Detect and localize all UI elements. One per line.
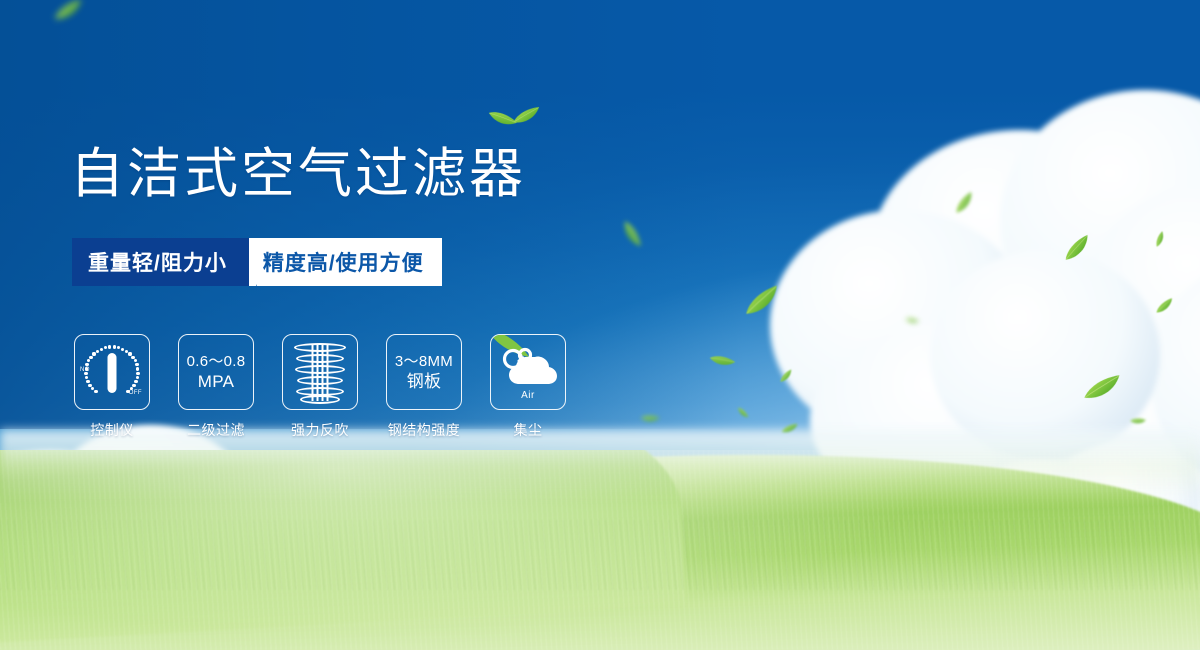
dial-tick-icon — [136, 367, 139, 370]
feature-label-dust: 集尘 — [514, 420, 543, 440]
subtitle-left: 重量轻/阻力小 — [72, 238, 249, 286]
feature-box-pressure[interactable]: 0.6〜0.8 MPA — [178, 334, 254, 410]
control-dial-icon: NO OFF — [79, 341, 145, 403]
horizon-blend — [0, 430, 1200, 500]
dial-tick-icon — [86, 380, 89, 383]
air-label: Air — [497, 390, 559, 401]
filter-coil-icon — [294, 343, 346, 401]
feature-item-dust[interactable]: Air 集尘 — [490, 334, 566, 440]
cloud-glyph-icon — [497, 343, 559, 389]
pressure-unit: MPA — [187, 372, 246, 392]
feature-label-steel: 钢结构强度 — [388, 420, 461, 440]
dial-tick-icon — [121, 348, 124, 351]
coil-ring-icon — [294, 343, 346, 352]
dial-tick-icon — [100, 348, 103, 351]
air-cloud-icon: Air — [497, 343, 559, 401]
dial-tick-icon — [132, 384, 135, 387]
coil-ring-icon — [297, 376, 343, 385]
dial-tick-icon — [84, 372, 87, 375]
dial-tick-icon — [85, 363, 88, 366]
coil-ring-icon — [296, 354, 344, 363]
dial-tick-icon — [92, 352, 95, 355]
dial-tick-icon — [136, 376, 139, 379]
coil-ring-icon — [295, 365, 345, 374]
feature-label-pressure: 二级过滤 — [187, 420, 245, 440]
dial-tick-icon — [113, 345, 116, 348]
product-banner: 自洁式空气过滤器 重量轻/阻力小 精度高/使用方便 NO OFF 控制仪 0.6… — [0, 0, 1200, 650]
dial-tick-icon — [136, 372, 139, 375]
dial-tick-icon — [88, 384, 91, 387]
dial-tick-icon — [85, 367, 88, 370]
page-title: 自洁式空气过滤器 — [70, 146, 526, 203]
dial-off-label: OFF — [129, 390, 142, 396]
feature-label-blowback: 强力反吹 — [291, 420, 349, 440]
pressure-value: 0.6〜0.8 — [187, 353, 246, 370]
coil-ring-icon — [300, 395, 340, 404]
dial-tick-icon — [108, 345, 111, 348]
steel-text-icon: 3〜8MM 钢板 — [395, 353, 453, 392]
feature-item-blowback[interactable]: 强力反吹 — [282, 334, 358, 440]
steel-thickness: 3〜8MM — [395, 353, 453, 370]
dial-tick-icon — [134, 380, 137, 383]
pressure-text-icon: 0.6〜0.8 MPA — [187, 353, 246, 392]
steel-material: 钢板 — [395, 372, 453, 392]
feature-label-control: 控制仪 — [90, 420, 134, 440]
dial-tick-icon — [89, 356, 92, 359]
dial-tick-icon — [134, 359, 137, 362]
subtitle-bar: 重量轻/阻力小 精度高/使用方便 — [72, 238, 442, 286]
feature-item-steel[interactable]: 3〜8MM 钢板 钢结构强度 — [386, 334, 462, 440]
dial-tick-icon — [96, 350, 99, 353]
feature-item-control[interactable]: NO OFF 控制仪 — [74, 334, 150, 440]
feature-box-blowback[interactable] — [282, 334, 358, 410]
dial-tick-icon — [87, 359, 90, 362]
dial-tick-icon — [117, 346, 120, 349]
dial-tick-icon — [85, 376, 88, 379]
dial-tick-icon — [104, 346, 107, 349]
subtitle-right: 精度高/使用方便 — [257, 238, 442, 286]
feature-box-steel[interactable]: 3〜8MM 钢板 — [386, 334, 462, 410]
feature-list: NO OFF 控制仪 0.6〜0.8 MPA 二级过滤 强 — [74, 334, 566, 440]
feature-item-pressure[interactable]: 0.6〜0.8 MPA 二级过滤 — [178, 334, 254, 440]
dial-pointer-icon — [108, 353, 117, 393]
dial-tick-icon — [135, 363, 138, 366]
dial-tick-icon — [94, 390, 97, 393]
dial-tick-icon — [126, 390, 129, 393]
feature-box-dust[interactable]: Air — [490, 334, 566, 410]
feature-box-control[interactable]: NO OFF — [74, 334, 150, 410]
